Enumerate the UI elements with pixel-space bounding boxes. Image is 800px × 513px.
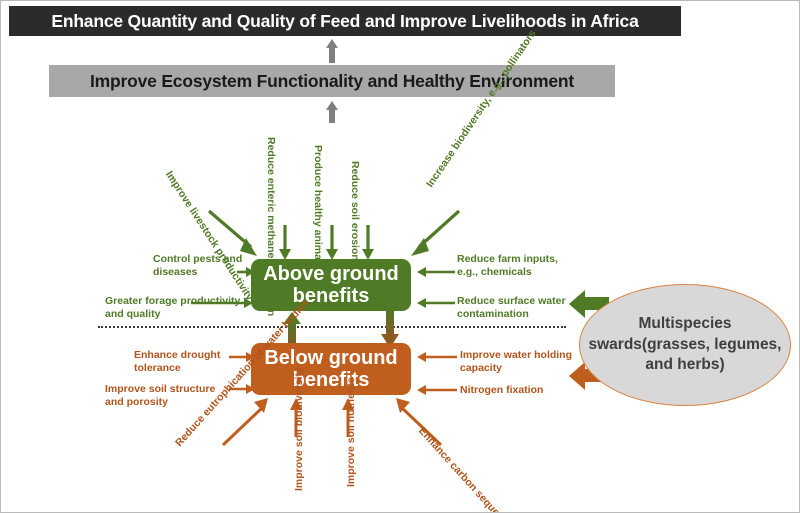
arrow-up-to-ecosystem [326, 101, 338, 123]
arrow-reduce-farm-inputs [415, 266, 455, 278]
caption-nitrogen-fixation: Nitrogen fixation [460, 384, 580, 397]
caption-improve-soil-nutrients: Improve soil nutrients [345, 377, 358, 487]
caption-increase-biodiversity-pollinators: Increase biodiversity, e.g., pollinators [424, 28, 540, 191]
caption-reduce-soil-erosion: Reduce soil erosion [348, 161, 361, 261]
caption-enhance-drought-tolerance: Enhance drought tolerance [134, 349, 234, 376]
arrow-nitrogen-fixation [415, 384, 457, 396]
caption-enhance-carbon-sequestration: Enhance carbon sequestration [415, 425, 528, 513]
node-below-ground-benefits: Below ground benefits [251, 343, 411, 395]
arrow-shaft [329, 47, 335, 63]
node-above-ground-benefits: Above ground benefits [251, 259, 411, 311]
diagram-canvas: Enhance Quantity and Quality of Feed and… [0, 0, 800, 513]
caption-reduce-farm-inputs: Reduce farm inputs, e.g., chemicals [457, 253, 577, 280]
arrow-produce-healthy-animal-products [325, 225, 339, 261]
soil-surface-line [98, 326, 566, 328]
caption-control-pests-and-diseases: Control pests and diseases [153, 253, 245, 280]
arrow-greater-forage-productivity [191, 297, 253, 309]
arrow-up-to-goal [326, 39, 338, 63]
arrow-increase-biodiversity [405, 209, 463, 261]
arrow-above-to-below [381, 308, 399, 344]
node-multispecies-swards: Multispecies swards(grasses, legumes, an… [579, 284, 791, 406]
caption-reduce-surface-water-contamination: Reduce surface water contamination [457, 295, 587, 322]
arrow-reduce-enteric-methane [278, 225, 292, 261]
arrow-reduce-soil-erosion [361, 225, 375, 261]
arrow-shaft [329, 109, 335, 123]
caption-improve-soil-biodiversity: Improve soil biodiversity [293, 367, 306, 491]
caption-improve-water-holding-capacity: Improve water holding capacity [460, 349, 572, 376]
arrow-reduce-surface-water-contamination [415, 297, 455, 309]
ecosystem-banner: Improve Ecosystem Functionality and Heal… [49, 65, 615, 97]
arrow-control-pests-and-diseases [237, 266, 255, 278]
goal-banner: Enhance Quantity and Quality of Feed and… [9, 6, 681, 36]
arrow-improve-water-holding-capacity [415, 351, 457, 363]
